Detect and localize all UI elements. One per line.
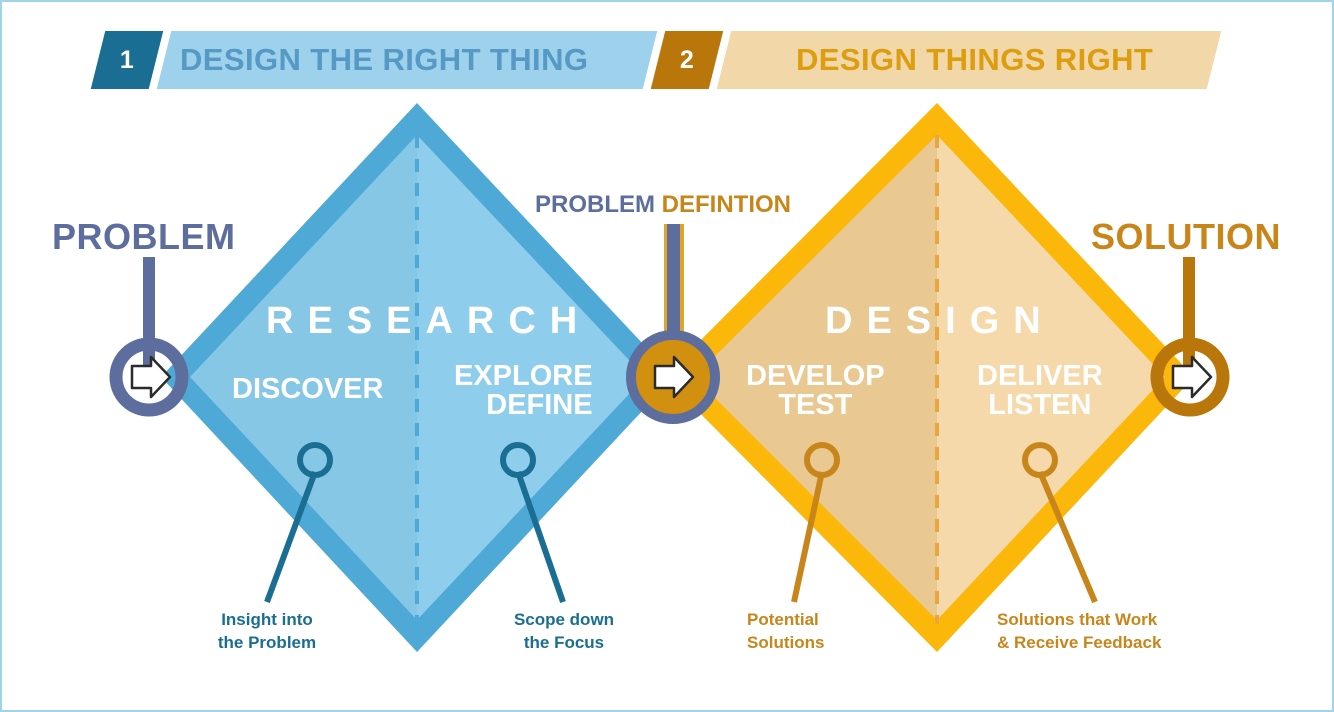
right-diamond-fill-develop (694, 135, 937, 620)
double-diamond-graphic (2, 2, 1334, 712)
left-diamond-fill-discover (190, 135, 417, 620)
left-diamond-fill-explore (417, 135, 645, 620)
arrow-right-icon (132, 357, 170, 397)
right-diamond-fill-deliver (937, 135, 1165, 620)
diagram-canvas: 1 DESIGN THE RIGHT THING 2 DESIGN THINGS… (0, 0, 1334, 712)
